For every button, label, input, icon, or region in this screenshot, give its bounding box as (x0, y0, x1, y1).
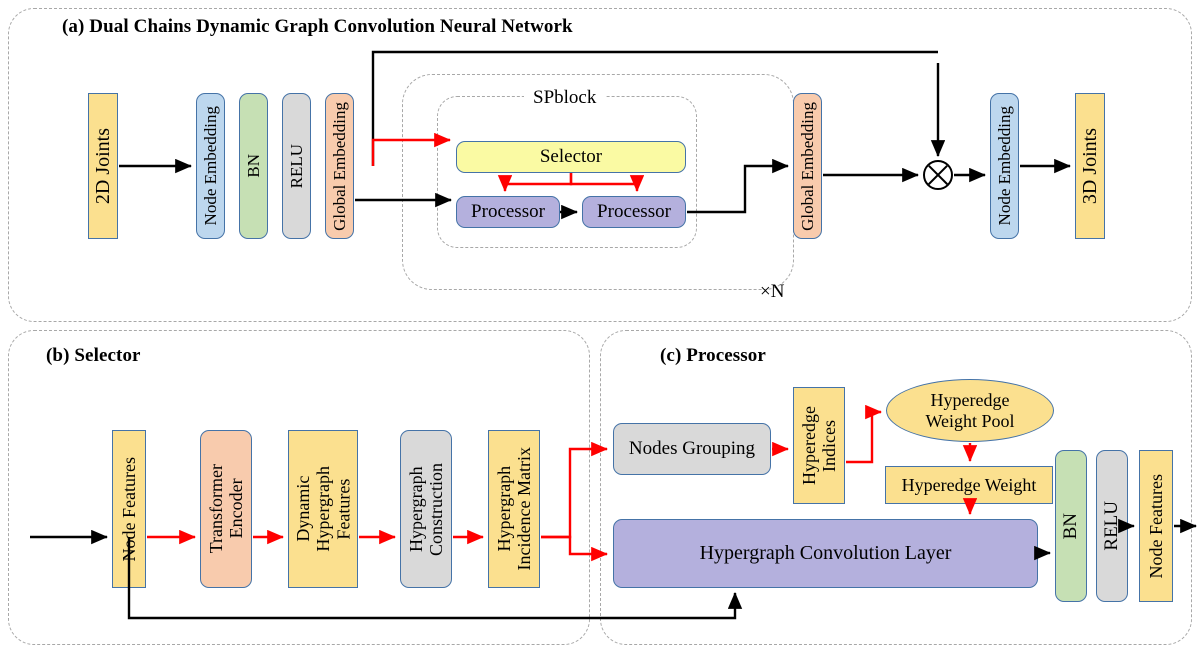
repeat-count-label: ×N (760, 281, 784, 303)
figure-root: (a) Dual Chains Dynamic Graph Convolutio… (0, 0, 1200, 653)
block-node-features-c-label: Node Features (1146, 474, 1166, 578)
block-hyperedge-weight: Hyperedge Weight (885, 466, 1053, 504)
block-node-embedding-out-label: Node Embedding (995, 106, 1014, 225)
block-hyperedge-indices: Hyperedge Indices (793, 387, 845, 504)
block-processor-1: Processor (456, 196, 560, 228)
block-bn-a-label: BN (244, 154, 263, 178)
block-hypergraph-convolution-layer-label: Hypergraph Convolution Layer (700, 542, 952, 564)
block-hypergraph-convolution-layer: Hypergraph Convolution Layer (613, 519, 1038, 588)
block-hyperedge-weight-label: Hyperedge Weight (902, 475, 1037, 495)
block-nodes-grouping-label: Nodes Grouping (629, 438, 755, 459)
block-relu-a-label: RELU (287, 144, 306, 188)
block-dynamic-hypergraph-features-label: Dynamic Hypergraph Features (293, 466, 353, 552)
block-selector-label: Selector (540, 146, 602, 167)
block-global-embedding-out-label: Global Embedding (798, 102, 817, 231)
block-hypergraph-incidence-matrix-label: Hypergraph Incidence Matrix (494, 447, 534, 570)
block-node-features-b-label: Node Features (119, 457, 139, 561)
block-node-features-b: Node Features (112, 430, 146, 588)
block-hyperedge-weight-pool: Hyperedge Weight Pool (886, 379, 1054, 442)
block-hyperedge-indices-label: Hyperedge Indices (799, 406, 839, 485)
block-relu-c-label: RELU (1101, 501, 1122, 551)
block-global-embedding-in-label: Global Embedding (330, 102, 349, 231)
block-node-embedding-out: Node Embedding (990, 93, 1019, 239)
panel-a-title: (a) Dual Chains Dynamic Graph Convolutio… (62, 16, 573, 38)
block-bn-c-label: BN (1060, 513, 1081, 539)
block-transformer-encoder-label: Transformer Encoder (206, 464, 246, 553)
block-bn-c: BN (1055, 450, 1087, 602)
block-processor-2: Processor (582, 196, 686, 228)
block-node-embedding-in-label: Node Embedding (201, 106, 220, 225)
block-3d-joints: 3D Joints (1075, 93, 1105, 239)
block-processor-1-label: Processor (471, 201, 545, 222)
multiply-operator-icon (923, 160, 953, 190)
block-processor-2-label: Processor (597, 201, 671, 222)
block-global-embedding-out: Global Embedding (793, 93, 822, 239)
block-node-features-c: Node Features (1139, 450, 1173, 602)
block-dynamic-hypergraph-features: Dynamic Hypergraph Features (288, 430, 358, 588)
block-hyperedge-weight-pool-label: Hyperedge Weight Pool (925, 390, 1014, 431)
block-nodes-grouping: Nodes Grouping (613, 423, 771, 475)
block-hypergraph-construction-label: Hypergraph Construction (406, 463, 446, 556)
block-3d-joints-label: 3D Joints (1079, 128, 1101, 204)
block-global-embedding-in: Global Embedding (325, 93, 354, 239)
block-relu-c: RELU (1096, 450, 1128, 602)
block-bn-a: BN (239, 93, 268, 239)
block-relu-a: RELU (282, 93, 311, 239)
block-2d-joints: 2D Joints (88, 93, 118, 239)
panel-c-title: (c) Processor (660, 345, 766, 367)
block-2d-joints-label: 2D Joints (92, 128, 114, 204)
spblock-title: SPblock (524, 87, 605, 109)
block-hypergraph-construction: Hypergraph Construction (400, 430, 452, 588)
panel-b-title: (b) Selector (46, 345, 141, 367)
block-hypergraph-incidence-matrix: Hypergraph Incidence Matrix (488, 430, 540, 588)
block-transformer-encoder: Transformer Encoder (200, 430, 252, 588)
block-node-embedding-in: Node Embedding (196, 93, 225, 239)
block-selector: Selector (456, 141, 686, 173)
